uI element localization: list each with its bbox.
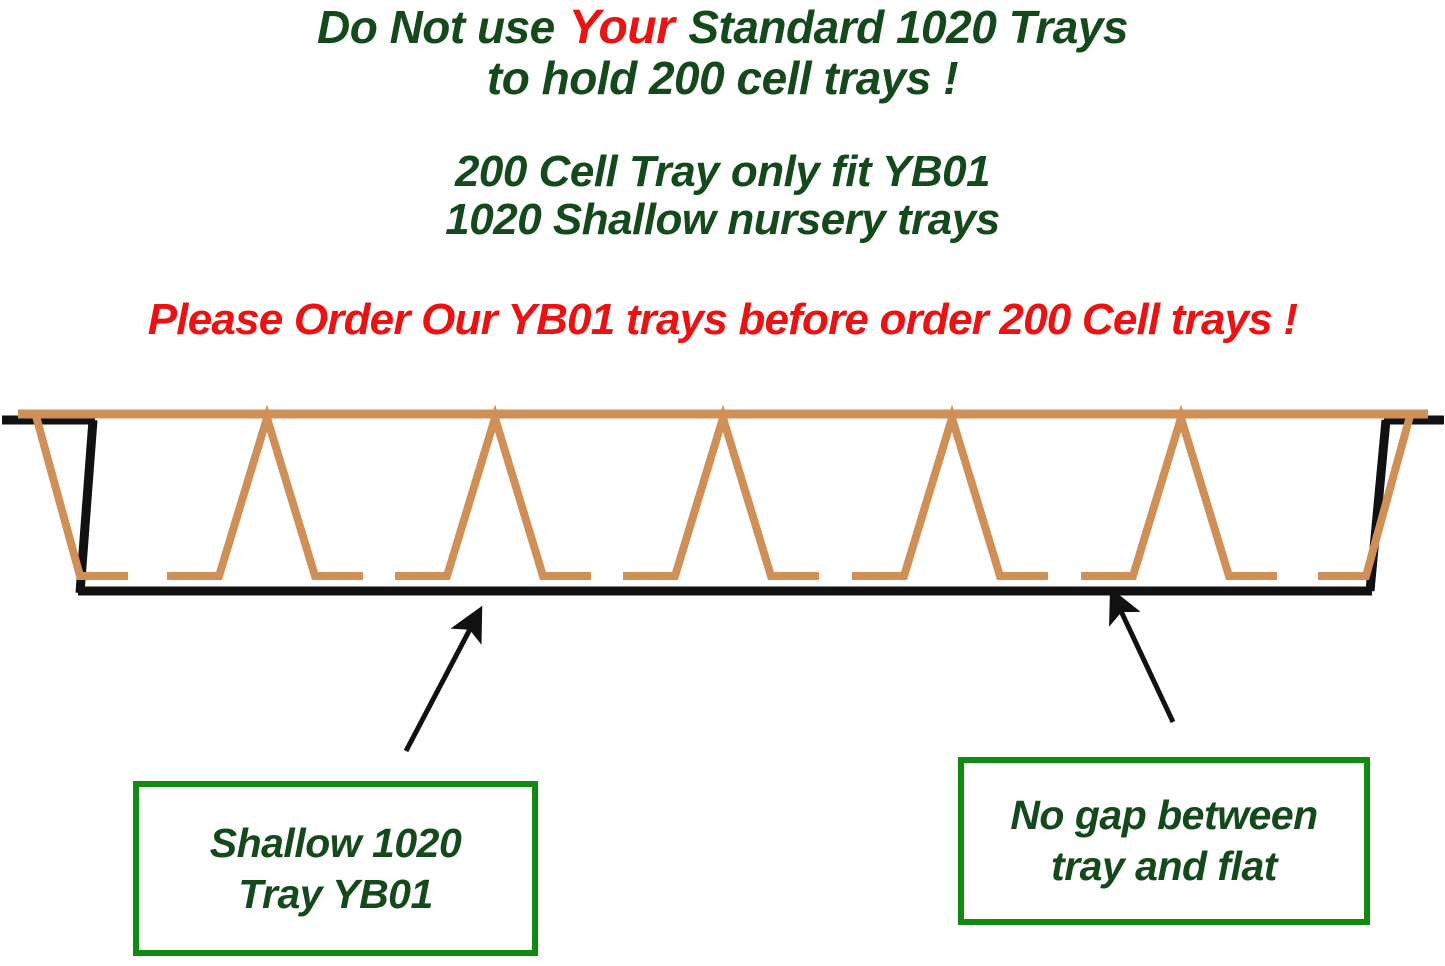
callout-left-line-1: Shallow 1020 <box>210 818 462 869</box>
callout-right-line-2: tray and flat <box>1010 841 1317 892</box>
arrow-to-shallow-tray <box>406 612 479 751</box>
poster-canvas: Do Not useYourStandard 1020 Trays to hol… <box>0 0 1445 966</box>
arrow-to-no-gap-point <box>1113 594 1173 722</box>
callout-no-gap-text: No gap between tray and flat <box>1010 790 1317 892</box>
headline-text-do-not-use: Do Not use <box>317 1 555 53</box>
callout-shallow-tray: Shallow 1020 Tray YB01 <box>133 781 538 956</box>
headline-text-standard-trays: Standard 1020 Trays <box>688 1 1128 53</box>
headline-line-2: to hold 200 cell trays ! <box>0 54 1445 104</box>
callout-shallow-tray-text: Shallow 1020 Tray YB01 <box>210 818 462 920</box>
headline-do-not-use: Do Not useYourStandard 1020 Trays to hol… <box>0 2 1445 104</box>
order-warning-line: Please Order Our YB01 trays before order… <box>148 295 1298 344</box>
headline-fit-info: 200 Cell Tray only fit YB01 1020 Shallow… <box>0 148 1445 243</box>
callout-no-gap: No gap between tray and flat <box>958 757 1370 925</box>
callout-right-line-1: No gap between <box>1010 790 1317 841</box>
headline-emphasis-your: Your <box>569 1 675 54</box>
fit-info-line-2: 1020 Shallow nursery trays <box>0 196 1445 244</box>
headline-line-1: Do Not useYourStandard 1020 Trays <box>0 2 1445 54</box>
fit-info-line-1: 200 Cell Tray only fit YB01 <box>0 148 1445 196</box>
headline-order-warning: Please Order Our YB01 trays before order… <box>0 296 1445 344</box>
200-cell-tray-outline <box>18 414 1428 576</box>
callout-left-line-2: Tray YB01 <box>210 869 462 920</box>
